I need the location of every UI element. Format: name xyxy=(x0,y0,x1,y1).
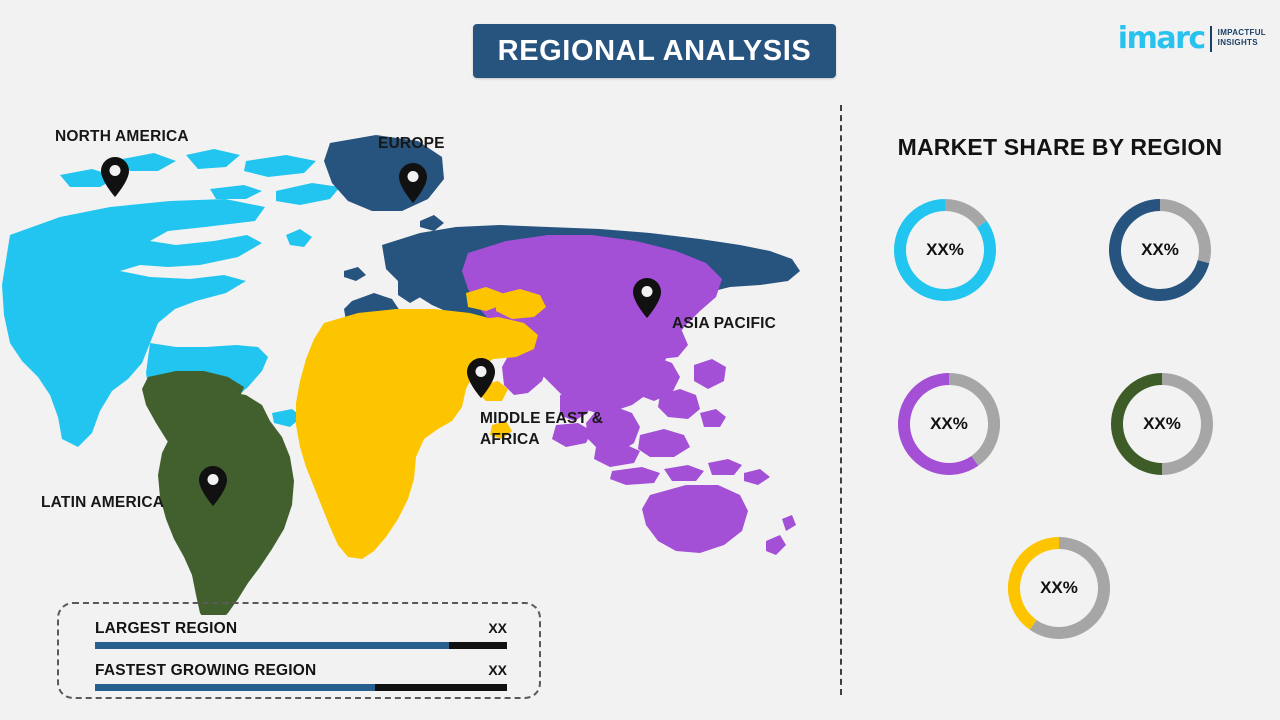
donut-value-europe: XX% xyxy=(1104,194,1216,306)
region-summary-legend: LARGEST REGION XX FASTEST GROWING REGION… xyxy=(57,602,541,699)
logo-tagline: IMPACTFUL INSIGHTS xyxy=(1218,28,1266,48)
legend-row-largest-region: LARGEST REGION XX xyxy=(95,620,507,649)
map-label-latin-america: LATIN AMERICA xyxy=(41,492,164,513)
map-label-middle-east-africa: MIDDLE EAST & AFRICA xyxy=(480,408,603,450)
legend-value-largest-region: XX xyxy=(488,620,507,636)
donut-value-middle-east-africa: XX% xyxy=(1003,532,1115,644)
map-pin-icon-asia-pacific[interactable] xyxy=(632,278,662,318)
donut-chart-asia-pacific[interactable]: XX% xyxy=(893,368,1005,480)
donut-value-latin-america: XX% xyxy=(1106,368,1218,480)
map-pin-icon-middle-east-africa[interactable] xyxy=(466,358,496,398)
infographic-canvas: REGIONAL ANALYSIS imarc IMPACTFUL INSIGH… xyxy=(0,0,1280,720)
logo-wordmark: imarc xyxy=(1118,24,1205,54)
page-title-banner: REGIONAL ANALYSIS xyxy=(473,24,836,78)
legend-bar-fastest-growing-region xyxy=(95,684,507,691)
legend-label-fastest-growing-region: FASTEST GROWING REGION xyxy=(95,662,316,680)
map-pin-icon-latin-america[interactable] xyxy=(198,466,228,506)
map-pin-icon-north-america[interactable] xyxy=(100,157,130,197)
map-pin-icon-europe[interactable] xyxy=(398,163,428,203)
market-share-title: MARKET SHARE BY REGION xyxy=(840,134,1280,161)
legend-label-largest-region: LARGEST REGION xyxy=(95,620,237,638)
section-divider xyxy=(840,105,842,695)
donut-chart-latin-america[interactable]: XX% xyxy=(1106,368,1218,480)
page-title: REGIONAL ANALYSIS xyxy=(498,35,812,68)
donut-chart-middle-east-africa[interactable]: XX% xyxy=(1003,532,1115,644)
donut-chart-europe[interactable]: XX% xyxy=(1104,194,1216,306)
map-label-north-america: NORTH AMERICA xyxy=(55,126,189,147)
map-label-asia-pacific: ASIA PACIFIC xyxy=(672,313,776,334)
donut-value-north-america: XX% xyxy=(889,194,1001,306)
legend-bar-fill-fastest-growing-region xyxy=(95,684,375,691)
imarc-logo: imarc IMPACTFUL INSIGHTS xyxy=(1118,24,1266,54)
legend-bar-fill-largest-region xyxy=(95,642,449,649)
map-label-europe: EUROPE xyxy=(378,133,445,154)
legend-bar-largest-region xyxy=(95,642,507,649)
legend-value-fastest-growing-region: XX xyxy=(488,662,507,678)
donut-chart-north-america[interactable]: XX% xyxy=(889,194,1001,306)
donut-value-asia-pacific: XX% xyxy=(893,368,1005,480)
logo-tagline-line1: IMPACTFUL xyxy=(1218,28,1266,37)
legend-row-fastest-growing-region: FASTEST GROWING REGION XX xyxy=(95,662,507,691)
logo-divider-icon xyxy=(1210,26,1212,52)
logo-tagline-line2: INSIGHTS xyxy=(1218,38,1258,47)
